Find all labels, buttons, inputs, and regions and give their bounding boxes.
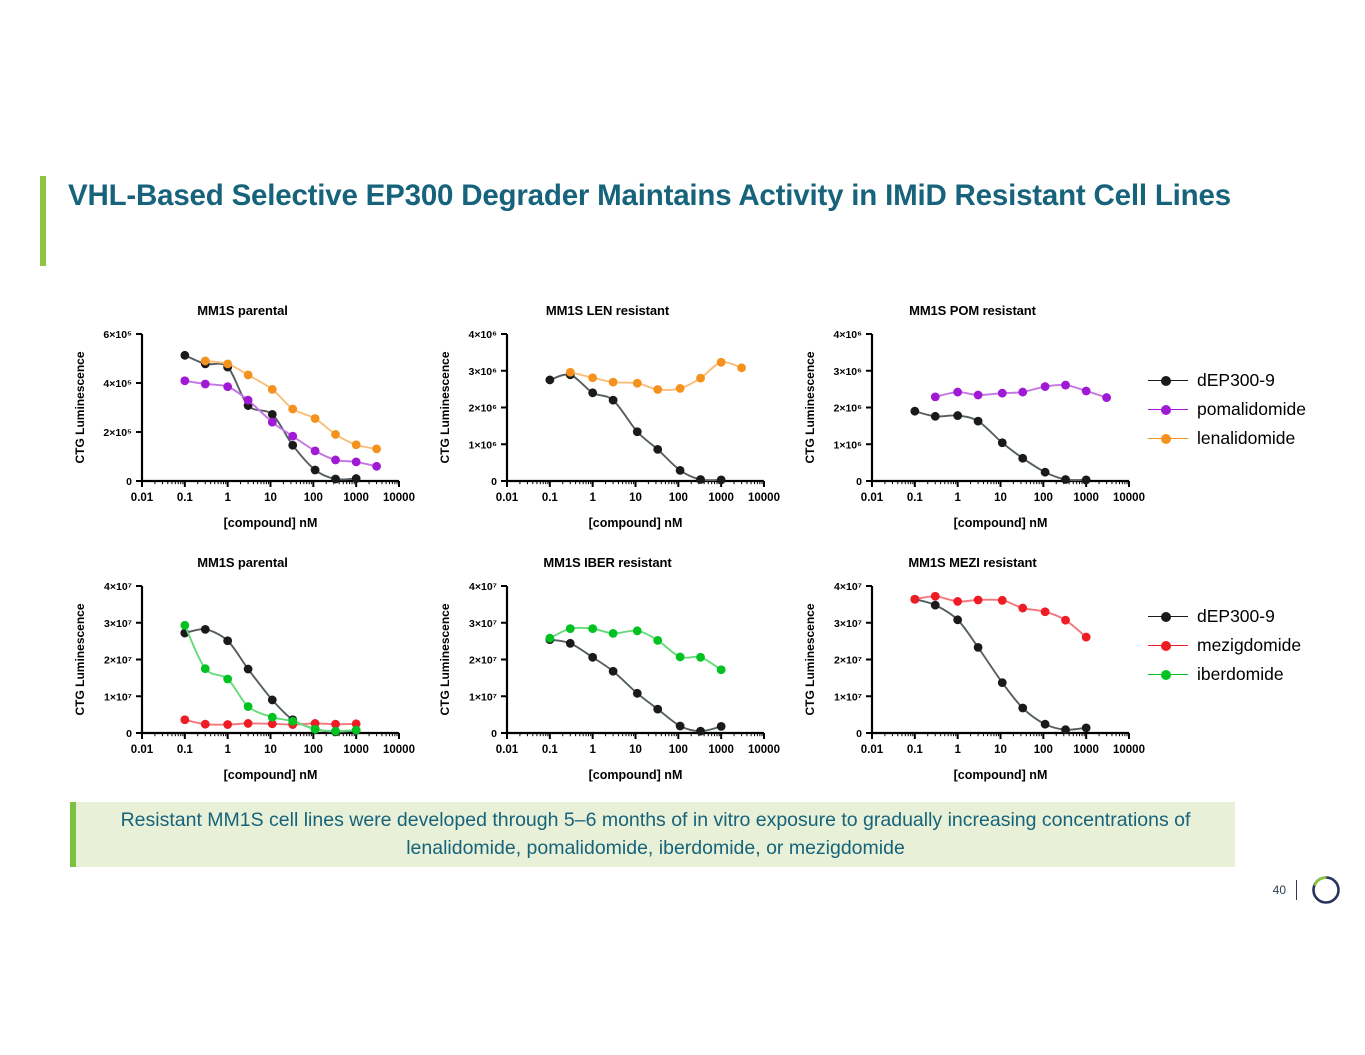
plot-area: 0.010.111010010001000001×10⁷2×10⁷3×10⁷4×… (435, 570, 780, 785)
data-point (609, 667, 618, 676)
legend-item-label: dEP300-9 (1197, 606, 1275, 627)
data-point (223, 675, 232, 684)
y-tick-label: 6×10⁵ (103, 329, 132, 341)
data-point (633, 626, 642, 635)
data-point (931, 412, 940, 421)
y-tick-label: 2×10⁷ (104, 655, 132, 667)
data-point (1061, 616, 1070, 625)
x-axis-label: [compound] nM (224, 768, 318, 782)
legend-item: lenalidomide (1148, 424, 1348, 453)
data-point (737, 363, 746, 372)
x-tick-label: 100 (304, 744, 323, 756)
data-point (1018, 454, 1027, 463)
plot-canvas: 0.010.111010010001000001×10⁷2×10⁷3×10⁷4×… (435, 570, 780, 785)
plot-canvas: 0.010.111010010001000001×10⁷2×10⁷3×10⁷4×… (800, 570, 1145, 785)
data-point (268, 713, 277, 722)
legend-item-label: dEP300-9 (1197, 370, 1275, 391)
data-point (998, 389, 1007, 398)
data-point (311, 414, 320, 423)
legend-marker-icon (1148, 432, 1188, 446)
data-point (311, 466, 320, 475)
y-tick-label: 3×10⁷ (834, 618, 862, 630)
data-point (268, 385, 277, 394)
plot-area: 0.010.111010010001000001×10⁷2×10⁷3×10⁷4×… (70, 570, 415, 785)
y-tick-label: 2×10⁶ (834, 403, 863, 415)
data-point (288, 432, 297, 441)
data-point (1061, 475, 1070, 484)
data-point (1018, 604, 1027, 613)
data-point (1082, 387, 1091, 396)
chart-title: MM1S MEZI resistant (800, 552, 1145, 570)
data-point (566, 624, 575, 633)
x-tick-label: 10000 (748, 492, 780, 504)
data-point (974, 417, 983, 426)
data-point (953, 615, 962, 624)
data-point (1082, 475, 1091, 484)
x-tick-label: 10000 (383, 744, 415, 756)
data-point (717, 722, 726, 731)
data-point (998, 596, 1007, 605)
x-tick-label: 100 (669, 492, 688, 504)
legend-item-label: lenalidomide (1197, 428, 1295, 449)
x-tick-label: 0.1 (177, 492, 194, 504)
x-tick-label: 1000 (343, 744, 369, 756)
x-tick-label: 1 (954, 744, 961, 756)
legend-bottom: dEP300-9mezigdomideiberdomide (1148, 602, 1348, 689)
x-axis-label: [compound] nM (224, 516, 318, 530)
y-tick-label: 1×10⁶ (469, 439, 498, 451)
plot-canvas: 0.010.111010010001000001×10⁶2×10⁶3×10⁶4×… (435, 318, 780, 533)
data-point (566, 368, 575, 377)
x-tick-label: 0.01 (496, 744, 519, 756)
y-tick-label: 3×10⁶ (834, 366, 863, 378)
plot-area: 0.010.111010010001000002×10⁵4×10⁵6×10⁵CT… (70, 318, 415, 533)
y-axis-label: CTG Luminescence (438, 603, 452, 715)
data-point (910, 595, 919, 604)
x-tick-label: 0.01 (861, 744, 884, 756)
data-point (974, 643, 983, 652)
x-tick-label: 1000 (1073, 744, 1099, 756)
data-point (609, 378, 618, 387)
data-point (717, 358, 726, 367)
data-point (244, 396, 253, 405)
x-tick-label: 0.01 (861, 492, 884, 504)
data-point (223, 720, 232, 729)
data-point (201, 664, 210, 673)
x-axis-label: [compound] nM (589, 768, 683, 782)
legend-marker-icon (1148, 639, 1188, 653)
data-point (331, 727, 340, 736)
data-point (998, 678, 1007, 687)
data-point (201, 625, 210, 634)
y-tick-label: 2×10⁵ (103, 427, 132, 439)
series-mezigdomide (910, 592, 1090, 642)
x-tick-label: 0.01 (131, 744, 154, 756)
x-tick-label: 10000 (383, 492, 415, 504)
y-tick-label: 4×10⁷ (834, 581, 862, 593)
data-point (1041, 607, 1050, 616)
data-point (974, 596, 983, 605)
x-tick-label: 0.1 (177, 744, 194, 756)
y-tick-label: 3×10⁶ (469, 366, 498, 378)
y-tick-label: 4×10⁶ (469, 329, 498, 341)
x-tick-label: 0.01 (131, 492, 154, 504)
y-tick-label: 4×10⁷ (469, 581, 497, 593)
figure-area: MM1S parental0.010.111010010001000002×10… (70, 300, 1160, 790)
data-point (180, 715, 189, 724)
data-point (1018, 704, 1027, 713)
series-dEP300-9 (910, 595, 1090, 734)
x-tick-label: 1 (589, 744, 596, 756)
y-tick-label: 0 (856, 728, 862, 740)
chart-mm1s-parental-bottom: MM1S parental0.010.111010010001000001×10… (70, 552, 415, 797)
data-point (545, 376, 554, 385)
data-point (609, 396, 618, 405)
data-point (931, 392, 940, 401)
data-point (288, 441, 297, 450)
x-tick-label: 0.1 (907, 744, 924, 756)
chart-mm1s-mezi-resistant: MM1S MEZI resistant0.010.111010010001000… (800, 552, 1145, 797)
data-point (676, 653, 685, 662)
y-tick-label: 0 (126, 476, 132, 488)
legend-item: iberdomide (1148, 660, 1348, 689)
data-point (223, 359, 232, 368)
x-tick-label: 10 (629, 744, 642, 756)
data-point (676, 384, 685, 393)
x-axis-label: [compound] nM (954, 768, 1048, 782)
data-point (588, 653, 597, 662)
fit-curve (185, 381, 377, 467)
legend-item-label: iberdomide (1197, 664, 1284, 685)
data-point (268, 696, 277, 705)
page-title: VHL-Based Selective EP300 Degrader Maint… (68, 176, 1231, 215)
data-point (953, 597, 962, 606)
y-tick-label: 3×10⁷ (104, 618, 132, 630)
x-tick-label: 1000 (1073, 492, 1099, 504)
chart-title: MM1S IBER resistant (435, 552, 780, 570)
y-tick-label: 1×10⁷ (469, 691, 497, 703)
data-point (331, 475, 340, 484)
chart-mm1s-iber-resistant: MM1S IBER resistant0.010.111010010001000… (435, 552, 780, 797)
x-tick-label: 100 (304, 492, 323, 504)
series-dEP300-9 (910, 407, 1090, 485)
legend-top: dEP300-9pomalidomidelenalidomide (1148, 366, 1348, 453)
y-tick-label: 3×10⁷ (469, 618, 497, 630)
data-point (1041, 468, 1050, 477)
y-tick-label: 4×10⁵ (103, 378, 132, 390)
legend-item-label: pomalidomide (1197, 399, 1306, 420)
x-tick-label: 0.1 (542, 492, 559, 504)
y-tick-label: 0 (856, 476, 862, 488)
page-number: 40 (1273, 883, 1286, 897)
x-tick-label: 10000 (1113, 492, 1145, 504)
data-point (588, 388, 597, 397)
x-tick-label: 0.01 (496, 492, 519, 504)
data-point (352, 440, 361, 449)
y-tick-label: 1×10⁷ (104, 691, 132, 703)
data-point (633, 379, 642, 388)
data-point (931, 592, 940, 601)
legend-item: dEP300-9 (1148, 602, 1348, 631)
chart-title: MM1S POM resistant (800, 300, 1145, 318)
y-tick-label: 0 (491, 476, 497, 488)
data-point (696, 653, 705, 662)
legend-marker-icon (1148, 374, 1188, 388)
data-point (910, 407, 919, 416)
data-point (352, 474, 361, 483)
data-point (223, 636, 232, 645)
data-point (998, 438, 1007, 447)
y-tick-label: 0 (126, 728, 132, 740)
x-tick-label: 1000 (708, 492, 734, 504)
y-tick-label: 0 (491, 728, 497, 740)
legend-item: pomalidomide (1148, 395, 1348, 424)
data-point (180, 376, 189, 385)
caption-box: Resistant MM1S cell lines were developed… (70, 802, 1235, 867)
caption-text: Resistant MM1S cell lines were developed… (76, 807, 1235, 862)
data-point (633, 689, 642, 698)
x-tick-label: 100 (1034, 744, 1053, 756)
data-point (244, 719, 253, 728)
data-point (288, 405, 297, 414)
y-axis-label: CTG Luminescence (73, 603, 87, 715)
data-point (653, 705, 662, 714)
data-point (953, 411, 962, 420)
fit-curve (550, 640, 721, 732)
y-axis-label: CTG Luminescence (803, 603, 817, 715)
data-point (352, 457, 361, 466)
data-point (633, 427, 642, 436)
data-point (372, 445, 381, 454)
chart-title: MM1S parental (70, 552, 415, 570)
x-tick-label: 10 (994, 744, 1007, 756)
data-point (331, 430, 340, 439)
data-point (201, 357, 210, 366)
data-point (352, 726, 361, 735)
legend-item: mezigdomide (1148, 631, 1348, 660)
x-axis-label: [compound] nM (954, 516, 1048, 530)
chart-title: MM1S parental (70, 300, 415, 318)
legend-item: dEP300-9 (1148, 366, 1348, 395)
data-point (653, 385, 662, 394)
data-point (974, 391, 983, 400)
y-axis-label: CTG Luminescence (803, 351, 817, 463)
series-pomalidomide (180, 376, 381, 470)
data-point (244, 371, 253, 380)
x-tick-label: 0.1 (907, 492, 924, 504)
data-point (311, 446, 320, 455)
fit-curve (915, 599, 1086, 730)
fit-curve (550, 374, 721, 480)
data-point (676, 466, 685, 475)
data-point (609, 629, 618, 638)
x-tick-label: 10 (994, 492, 1007, 504)
chart-mm1s-pom-resistant: MM1S POM resistant0.010.1110100100010000… (800, 300, 1145, 545)
y-axis-label: CTG Luminescence (438, 351, 452, 463)
y-tick-label: 2×10⁷ (469, 655, 497, 667)
legend-marker-icon (1148, 668, 1188, 682)
x-tick-label: 10 (264, 492, 277, 504)
data-point (717, 475, 726, 484)
y-axis-label: CTG Luminescence (73, 351, 87, 463)
chart-mm1s-len-resistant: MM1S LEN resistant0.010.1110100100010000… (435, 300, 780, 545)
x-tick-label: 10 (629, 492, 642, 504)
data-point (311, 725, 320, 734)
x-tick-label: 100 (669, 744, 688, 756)
data-point (588, 373, 597, 382)
chart-title: MM1S LEN resistant (435, 300, 780, 318)
data-point (288, 717, 297, 726)
x-tick-label: 1 (224, 744, 231, 756)
plot-area: 0.010.111010010001000001×10⁷2×10⁷3×10⁷4×… (800, 570, 1145, 785)
plot-canvas: 0.010.111010010001000001×10⁷2×10⁷3×10⁷4×… (70, 570, 415, 785)
x-axis-label: [compound] nM (589, 516, 683, 530)
series-iberdomide (180, 621, 360, 736)
y-tick-label: 1×10⁷ (834, 691, 862, 703)
series-dEP300-9 (545, 635, 725, 735)
data-point (1082, 633, 1091, 642)
data-point (244, 665, 253, 674)
x-tick-label: 100 (1034, 492, 1053, 504)
ring-logo-icon (1309, 873, 1343, 907)
data-point (953, 388, 962, 397)
data-point (180, 621, 189, 630)
data-point (1061, 381, 1070, 390)
data-point (268, 410, 277, 419)
legend-marker-icon (1148, 403, 1188, 417)
y-tick-label: 4×10⁶ (834, 329, 863, 341)
series-dEP300-9 (545, 370, 725, 484)
y-tick-label: 2×10⁷ (834, 655, 862, 667)
plot-area: 0.010.111010010001000001×10⁶2×10⁶3×10⁶4×… (800, 318, 1145, 533)
series-iberdomide (545, 624, 725, 674)
data-point (653, 636, 662, 645)
x-tick-label: 1 (224, 492, 231, 504)
series-pomalidomide (931, 381, 1111, 402)
data-point (1018, 388, 1027, 397)
data-point (223, 382, 232, 391)
plot-canvas: 0.010.111010010001000002×10⁵4×10⁵6×10⁵CT… (70, 318, 415, 533)
data-point (696, 727, 705, 736)
data-point (1041, 382, 1050, 391)
x-tick-label: 10 (264, 744, 277, 756)
chart-mm1s-parental-top: MM1S parental0.010.111010010001000002×10… (70, 300, 415, 545)
title-accent-bar (40, 176, 46, 266)
data-point (180, 351, 189, 360)
x-tick-label: 1 (589, 492, 596, 504)
data-point (372, 462, 381, 471)
x-tick-label: 1 (954, 492, 961, 504)
y-tick-label: 1×10⁶ (834, 439, 863, 451)
data-point (1061, 725, 1070, 734)
data-point (696, 475, 705, 484)
data-point (588, 624, 597, 633)
data-point (696, 374, 705, 383)
data-point (1082, 723, 1091, 732)
legend-item-label: mezigdomide (1197, 635, 1301, 656)
data-point (1041, 720, 1050, 729)
plot-canvas: 0.010.111010010001000001×10⁶2×10⁶3×10⁶4×… (800, 318, 1145, 533)
data-point (653, 445, 662, 454)
x-tick-label: 1000 (343, 492, 369, 504)
y-tick-label: 4×10⁷ (104, 581, 132, 593)
data-point (201, 380, 210, 389)
data-point (331, 456, 340, 465)
data-point (545, 634, 554, 643)
data-point (676, 722, 685, 731)
y-tick-label: 2×10⁶ (469, 403, 498, 415)
plot-area: 0.010.111010010001000001×10⁶2×10⁶3×10⁶4×… (435, 318, 780, 533)
data-point (201, 720, 210, 729)
footer: 40 (1273, 873, 1343, 907)
data-point (244, 702, 253, 711)
data-point (268, 418, 277, 427)
x-tick-label: 10000 (1113, 744, 1145, 756)
data-point (1102, 393, 1111, 402)
data-point (566, 639, 575, 648)
legend-marker-icon (1148, 610, 1188, 624)
title-block: VHL-Based Selective EP300 Degrader Maint… (40, 176, 1300, 266)
footer-divider (1296, 880, 1297, 900)
x-tick-label: 1000 (708, 744, 734, 756)
data-point (717, 665, 726, 674)
data-point (931, 601, 940, 610)
x-tick-label: 0.1 (542, 744, 559, 756)
x-tick-label: 10000 (748, 744, 780, 756)
